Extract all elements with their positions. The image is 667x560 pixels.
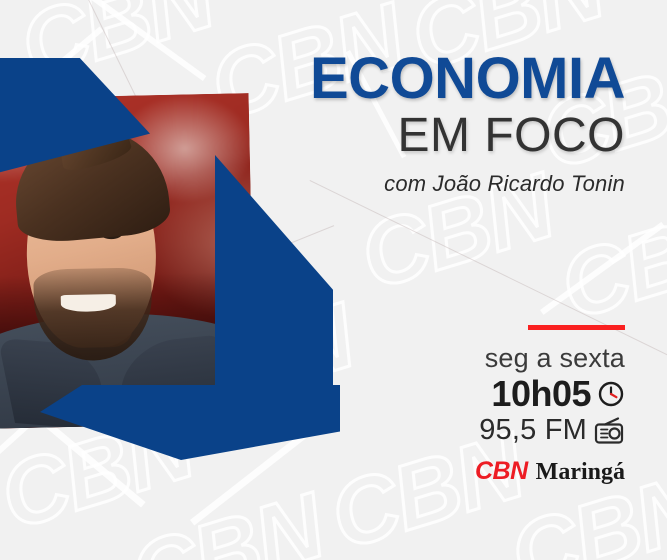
- red-divider: [528, 325, 625, 330]
- program-title: ECONOMIA: [225, 52, 625, 105]
- station-city: Maringá: [536, 459, 625, 486]
- schedule-days: seg a sexta: [295, 344, 625, 374]
- schedule-frequency-row: 95,5 FM: [295, 414, 625, 447]
- radio-program-banner: CBN CBN CBN CBN CBN CBN CBN CBN CBN CBN …: [0, 0, 667, 560]
- schedule-frequency: 95,5 FM: [479, 414, 587, 447]
- headline-block: ECONOMIA EM FOCO com João Ricardo Tonin: [225, 52, 625, 197]
- station-brand: CBN: [475, 457, 528, 486]
- schedule-block: seg a sexta 10h05 95,5 FM CBN Maringá: [295, 325, 625, 486]
- program-subtitle: EM FOCO: [225, 109, 625, 163]
- radio-icon: [593, 416, 625, 446]
- program-host: com João Ricardo Tonin: [225, 171, 625, 197]
- clock-icon: [597, 380, 625, 408]
- host-smile: [61, 294, 116, 312]
- schedule-time-row: 10h05: [295, 374, 625, 414]
- station-logo: CBN Maringá: [295, 457, 625, 486]
- schedule-time: 10h05: [491, 374, 591, 414]
